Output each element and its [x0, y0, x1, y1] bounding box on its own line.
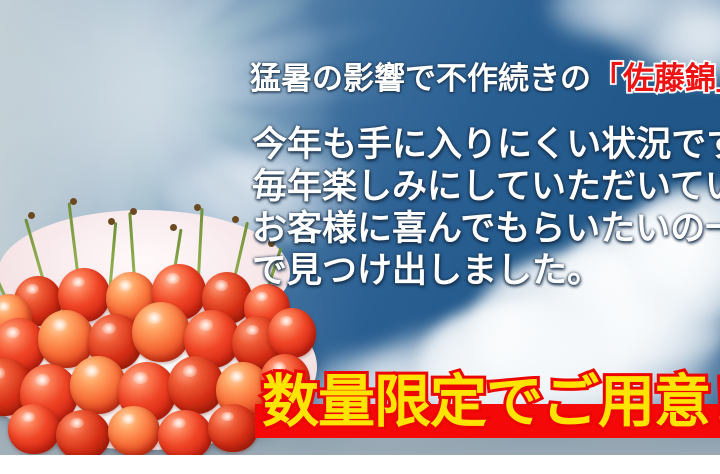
promo-banner: 猛暑の影響で不作続きの「佐藤錦」 今年も手に入りにくい状況ですが 毎年楽しみにし…	[0, 0, 720, 474]
body-line: で見つけ出しました。	[252, 250, 720, 292]
headline-brand: 「佐藤錦」	[592, 61, 720, 97]
headline-lead: 猛暑の影響で不作続きの	[250, 61, 591, 97]
body-line: 今年も手に入りにくい状況ですが	[252, 124, 720, 166]
cta-text: 数量限定でご用意！	[262, 365, 720, 439]
body-line: お客様に喜んでもらいたいの一心	[252, 208, 720, 250]
body-line: 毎年楽しみにしていただいている	[252, 166, 720, 208]
body-copy: 今年も手に入りにくい状況ですが 毎年楽しみにしていただいている お客様に喜んでも…	[252, 124, 720, 292]
headline: 猛暑の影響で不作続きの「佐藤錦」	[250, 53, 720, 98]
